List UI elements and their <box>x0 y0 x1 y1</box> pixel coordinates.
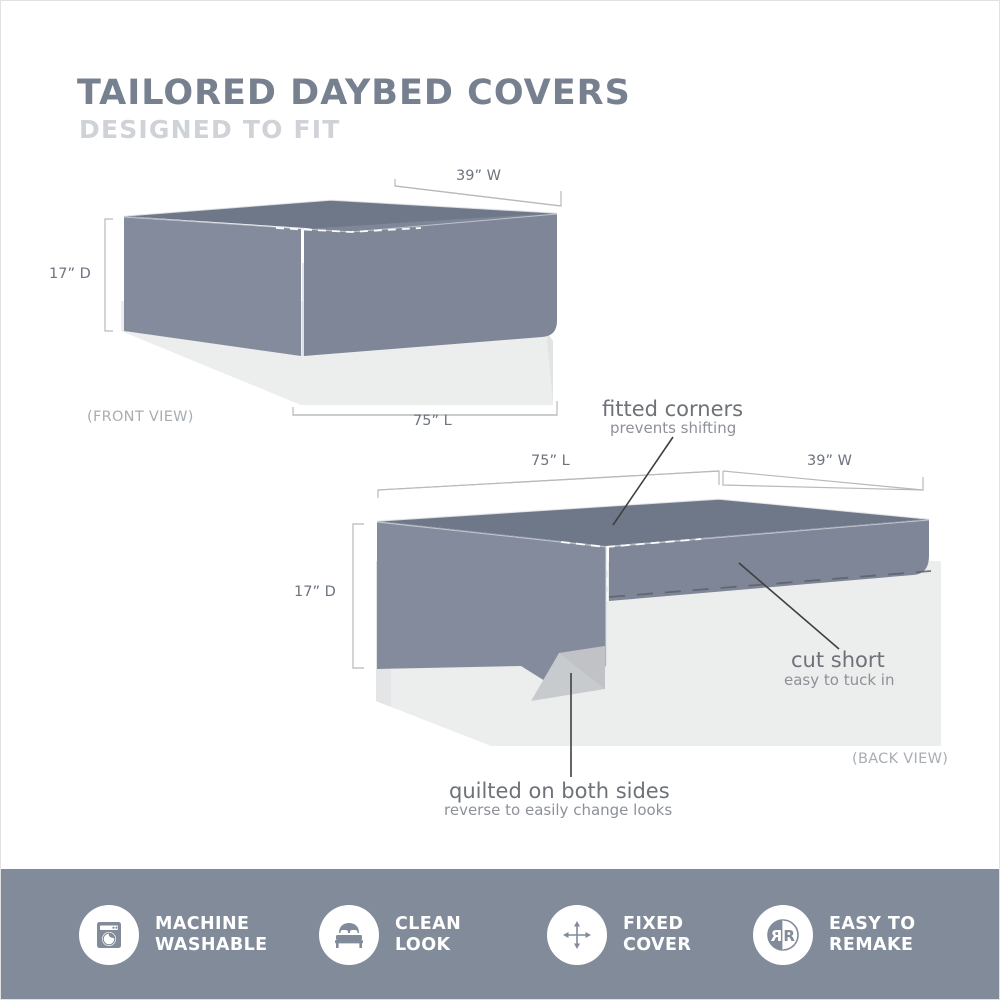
feature-fixed-cover: FIXED COVER <box>547 869 691 1000</box>
callout-cut-short-subtitle: easy to tuck in <box>784 671 894 689</box>
feature-clean-look-label: CLEAN LOOK <box>395 914 461 957</box>
feature-easy-to-remake-label: EASY TO REMAKE <box>829 914 915 957</box>
feature-label-line2: COVER <box>623 935 691 956</box>
back-view-label: (BACK VIEW) <box>852 751 948 767</box>
back-dim-length-bar <box>378 471 719 490</box>
back-length-label: 75” L <box>531 453 570 469</box>
feature-easy-to-remake: R R EASY TO REMAKE <box>753 869 915 1000</box>
callout-fitted-corners-title: fitted corners <box>602 397 743 421</box>
feature-machine-washable: MACHINE WASHABLE <box>79 869 268 1000</box>
svg-text:R: R <box>783 927 795 945</box>
feature-label-line2: WASHABLE <box>155 935 268 956</box>
callout-quilted-subtitle: reverse to easily change looks <box>444 801 672 819</box>
reversible-r-icon: R R <box>753 905 813 965</box>
svg-text:R: R <box>770 927 782 945</box>
back-dim-depth-line <box>353 524 364 668</box>
feature-bar: MACHINE WASHABLE CLEAN LOOK <box>1 869 1000 1000</box>
back-depth-label: 17” D <box>294 584 336 600</box>
feature-label-line1: EASY TO <box>829 914 915 935</box>
callout-cut-short-title: cut short <box>791 648 885 672</box>
feature-machine-washable-label: MACHINE WASHABLE <box>155 914 268 957</box>
back-width-label: 39” W <box>807 453 852 469</box>
callout-quilted-title: quilted on both sides <box>449 779 670 803</box>
back-dim-length-line <box>378 471 719 498</box>
infographic-page: TAILORED DAYBED COVERS DESIGNED TO FIT 3… <box>0 0 1000 1000</box>
feature-fixed-cover-label: FIXED COVER <box>623 914 691 957</box>
four-way-arrows-icon <box>547 905 607 965</box>
feature-clean-look: CLEAN LOOK <box>319 869 461 1000</box>
bed-icon <box>319 905 379 965</box>
feature-label-line1: MACHINE <box>155 914 268 935</box>
feature-label-line2: REMAKE <box>829 935 915 956</box>
back-view-diagram <box>1 1 1000 1000</box>
feature-label-line2: LOOK <box>395 935 461 956</box>
feature-label-line1: CLEAN <box>395 914 461 935</box>
washing-machine-icon <box>79 905 139 965</box>
callout-fitted-corners-subtitle: prevents shifting <box>610 419 736 437</box>
feature-label-line1: FIXED <box>623 914 691 935</box>
